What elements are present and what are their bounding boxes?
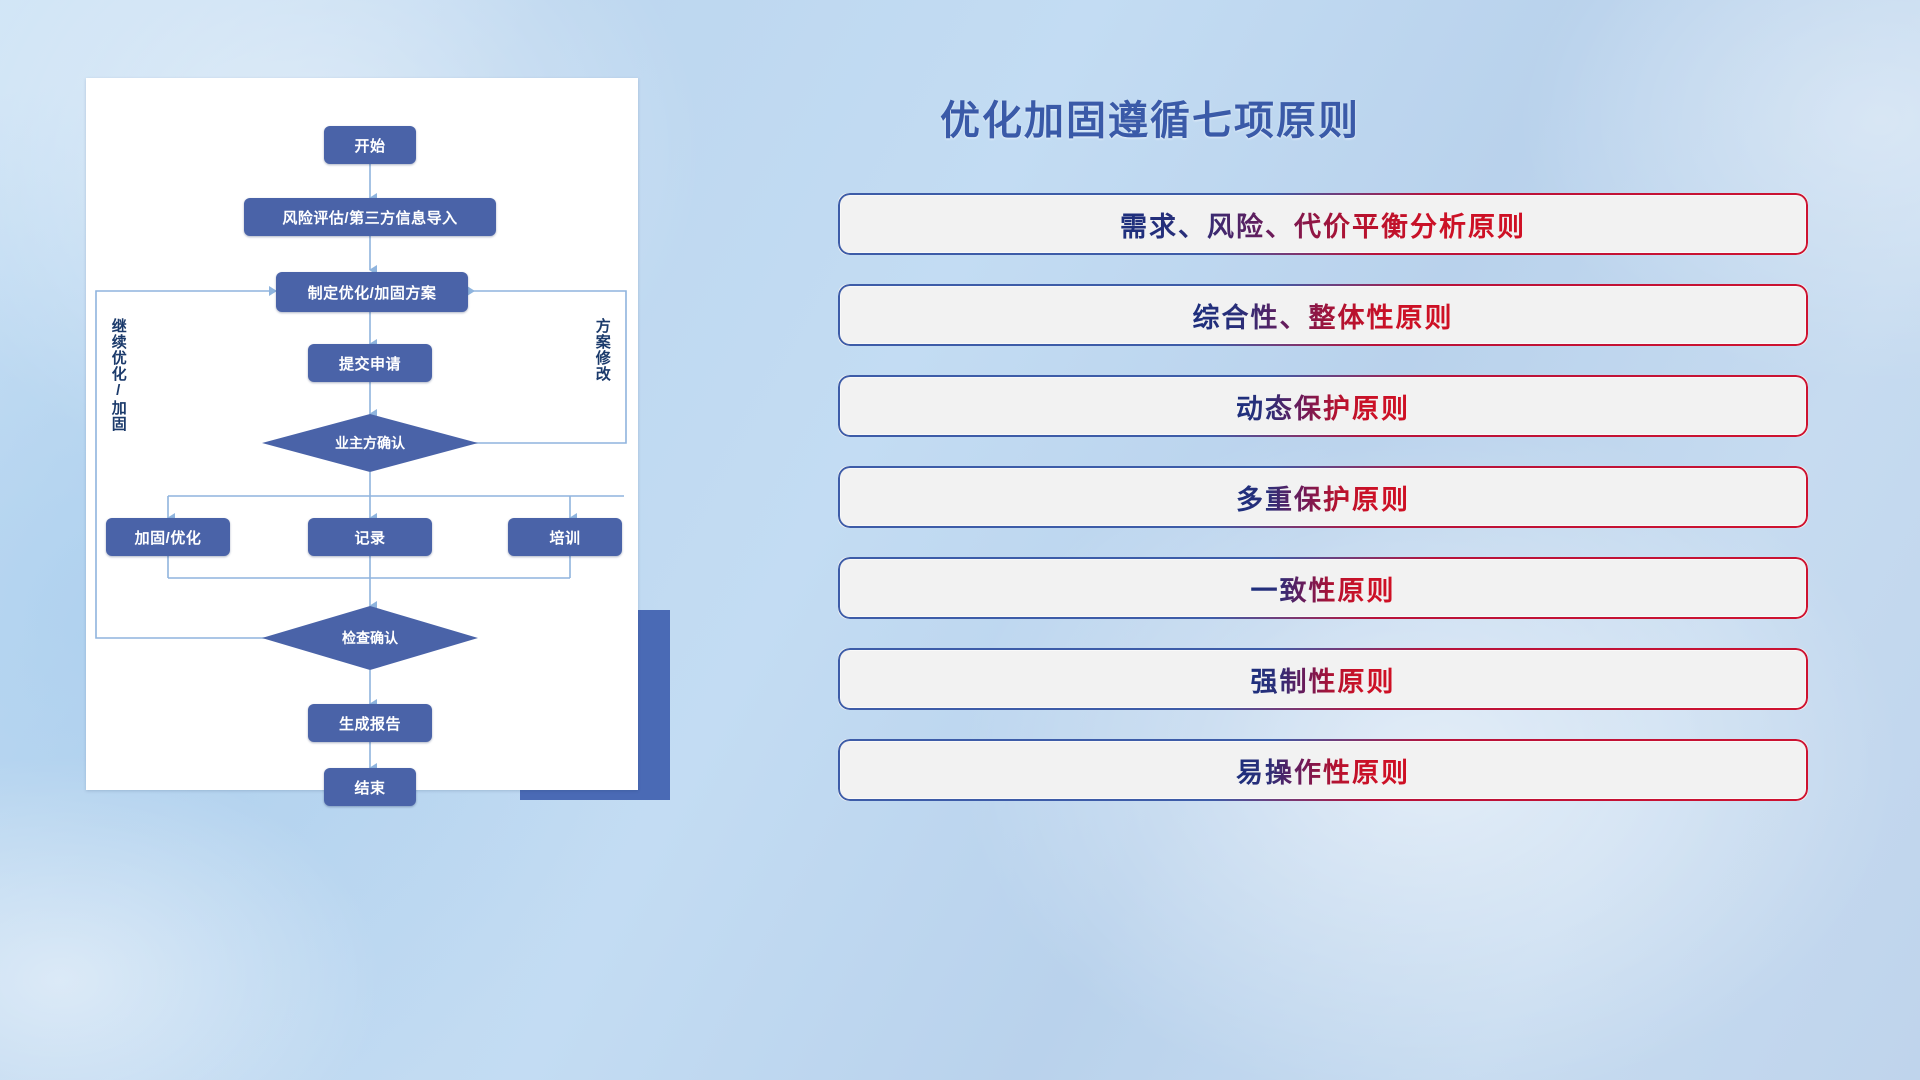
principle-item[interactable]: 综合性、整体性原则 [838,284,1808,346]
flow-node-reinforce[interactable]: 加固/优化 [106,518,230,556]
principle-label: 多重保护原则 [1236,478,1410,517]
flow-node-training[interactable]: 培训 [508,518,622,556]
principle-label: 需求、风险、代价平衡分析原则 [1120,205,1526,244]
edge-label-continue-optimize: 继续优化/加固 [110,318,126,448]
flowchart: 开始 风险评估/第三方信息导入 制定优化/加固方案 提交申请 业主方确认 加固/… [86,78,638,790]
principle-label: 一致性原则 [1251,569,1396,608]
flow-node-end[interactable]: 结束 [324,768,416,806]
principle-item[interactable]: 一致性原则 [838,557,1808,619]
principle-item[interactable]: 强制性原则 [838,648,1808,710]
flow-node-start[interactable]: 开始 [324,126,416,164]
principles-list: 需求、风险、代价平衡分析原则 综合性、整体性原则 动态保护原则 多重保护原则 一… [838,193,1808,830]
principle-item[interactable]: 易操作性原则 [838,739,1808,801]
principle-item[interactable]: 多重保护原则 [838,466,1808,528]
page-title: 优化加固遵循七项原则 [940,88,1780,146]
flow-node-check-confirm[interactable]: 检查确认 [262,606,478,670]
edge-label-plan-revision: 方案修改 [594,318,610,418]
flow-node-label: 业主方确认 [335,433,405,453]
flow-node-submit-application[interactable]: 提交申请 [308,344,432,382]
principle-label: 强制性原则 [1251,660,1396,699]
flow-node-generate-report[interactable]: 生成报告 [308,704,432,742]
flowchart-card: 开始 风险评估/第三方信息导入 制定优化/加固方案 提交申请 业主方确认 加固/… [86,78,638,790]
principle-label: 综合性、整体性原则 [1193,296,1454,335]
flow-node-record[interactable]: 记录 [308,518,432,556]
principle-label: 易操作性原则 [1236,751,1410,790]
principle-item[interactable]: 需求、风险、代价平衡分析原则 [838,193,1808,255]
flow-node-owner-confirm[interactable]: 业主方确认 [262,414,478,472]
principle-label: 动态保护原则 [1236,387,1410,426]
flow-node-risk-assessment[interactable]: 风险评估/第三方信息导入 [244,198,496,236]
principle-item[interactable]: 动态保护原则 [838,375,1808,437]
flow-node-label: 检查确认 [342,628,398,648]
flow-node-plan[interactable]: 制定优化/加固方案 [276,272,468,312]
